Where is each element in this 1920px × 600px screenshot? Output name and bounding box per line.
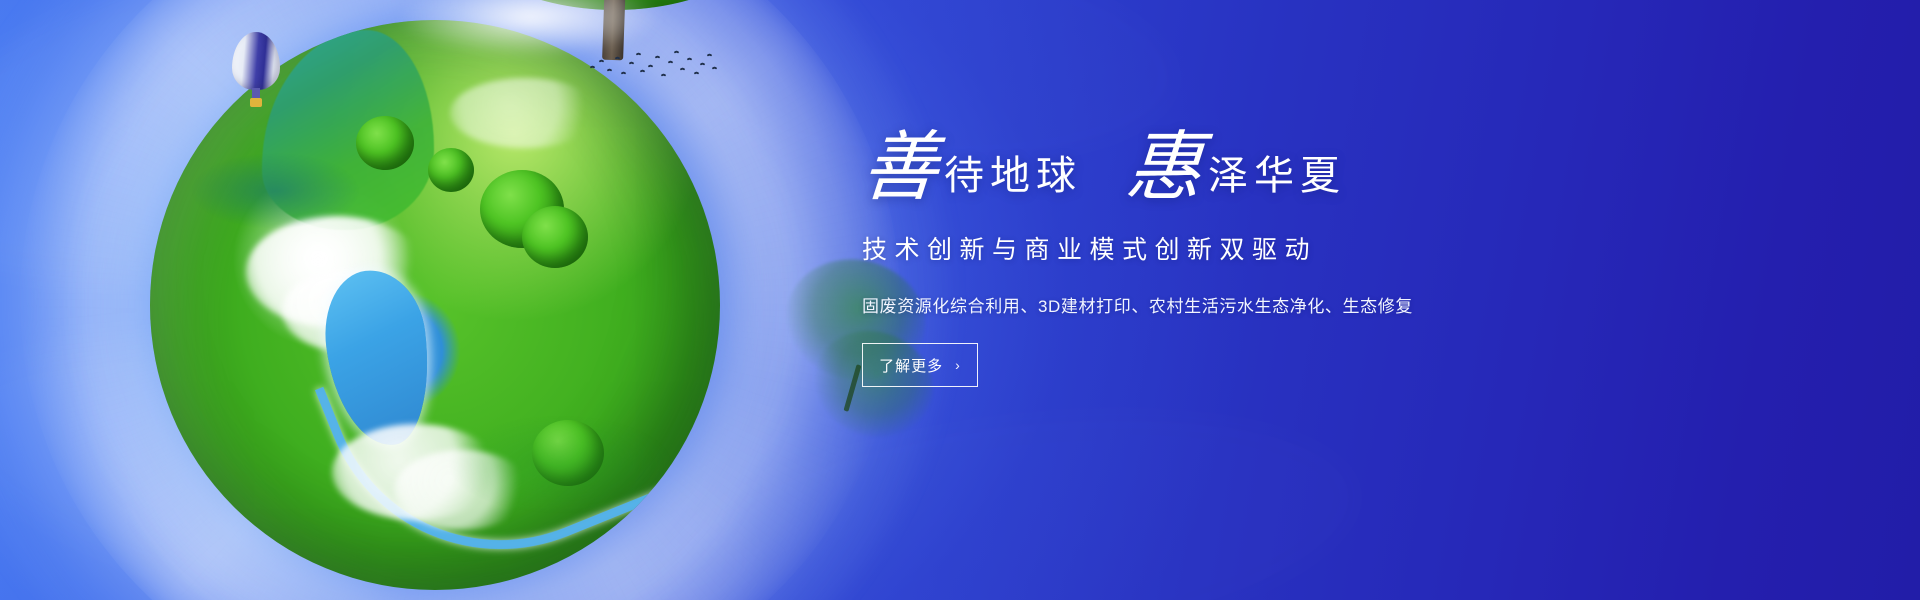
hero-content: 善 待地球 惠 泽华夏 技术创新与商业模式创新双驱动 固废资源化综合利用、3D建… <box>862 132 1622 387</box>
bird-icon <box>712 67 717 70</box>
bird-icon <box>694 72 699 75</box>
balloon-envelope <box>232 32 280 90</box>
bird-icon <box>615 57 620 60</box>
cloud-icon <box>332 424 500 520</box>
bird-icon <box>680 68 685 71</box>
page-title: 善 待地球 惠 泽华夏 <box>862 132 1622 204</box>
bird-icon <box>636 53 641 56</box>
tree-canopy-icon <box>356 116 414 170</box>
tree-canopy-icon <box>522 206 588 268</box>
business-description: 固废资源化综合利用、3D建材打印、农村生活污水生态净化、生态修复 <box>862 292 1622 317</box>
bird-icon <box>687 58 692 61</box>
terraced-hillside <box>262 30 434 230</box>
headline-char-hui: 惠 <box>1123 132 1204 204</box>
bird-icon <box>655 56 660 59</box>
tree-canopy-icon <box>532 420 604 486</box>
tagline: 技术创新与商业模式创新双驱动 <box>862 230 1622 266</box>
bird-icon <box>599 60 604 63</box>
bird-icon <box>674 51 679 54</box>
bird-icon <box>621 72 626 75</box>
balloon-neck <box>252 88 260 98</box>
lake <box>318 265 439 452</box>
headline-char-shan: 善 <box>859 132 940 204</box>
headline-word-zehuaxia: 泽华夏 <box>1202 156 1346 204</box>
chevron-right-icon: › <box>955 358 961 372</box>
hero-banner: 善 待地球 惠 泽华夏 技术创新与商业模式创新双驱动 固废资源化综合利用、3D建… <box>0 0 1920 600</box>
bird-icon <box>640 70 645 73</box>
cloud-icon <box>246 216 426 328</box>
bird-icon <box>629 62 634 65</box>
bird-icon <box>707 54 712 57</box>
learn-more-label: 了解更多 <box>879 355 943 376</box>
bird-icon <box>668 61 673 64</box>
headline-word-daidiqiu: 待地球 <box>938 156 1082 204</box>
bird-icon <box>661 74 666 77</box>
tree-canopy-icon <box>428 148 474 192</box>
balloon-basket <box>250 98 262 107</box>
hot-air-balloon-icon <box>232 32 280 116</box>
cloud-icon <box>394 450 530 530</box>
river <box>315 267 707 590</box>
bird-icon <box>700 63 705 66</box>
bird-flock-icon <box>588 48 716 88</box>
cloud-icon <box>282 270 410 352</box>
learn-more-button[interactable]: 了解更多 › <box>862 343 978 387</box>
tree-canopy-icon <box>480 170 564 248</box>
bird-icon <box>648 65 653 68</box>
bird-icon <box>607 69 612 72</box>
bird-icon <box>590 66 595 69</box>
